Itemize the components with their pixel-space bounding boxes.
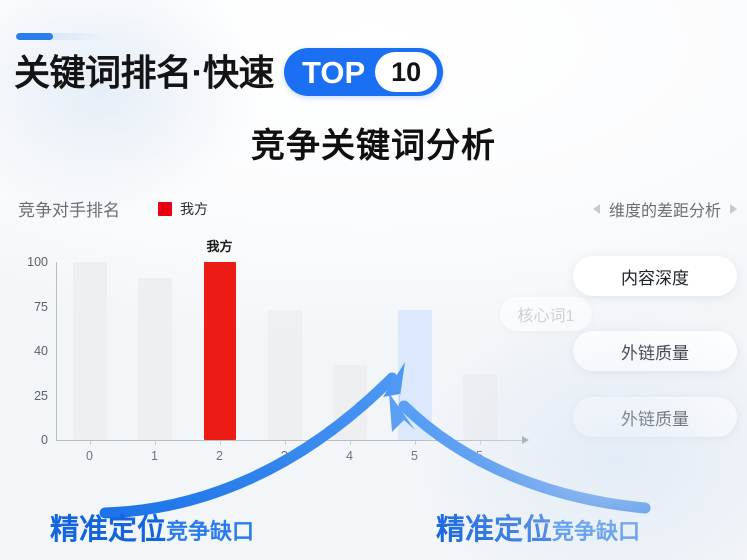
bar-slot: 我方: [187, 262, 252, 440]
caption-right: 精准定位 竞争缺口: [436, 506, 640, 548]
ghost-keyword-pill: 核心词1: [500, 297, 592, 331]
caption-left: 精准定位 竞争缺口: [50, 506, 254, 548]
x-axis-tick-label: 2: [216, 449, 223, 463]
x-axis-tick: [480, 441, 481, 445]
x-axis-tick-label: 5: [476, 449, 483, 463]
caption-right-sub: 竞争缺口: [552, 514, 640, 546]
bar[interactable]: [463, 374, 497, 440]
chevron-left-icon[interactable]: [593, 204, 600, 214]
x-axis-tick: [220, 441, 221, 445]
x-axis-tick-label: 0: [86, 449, 93, 463]
bar-slot: [382, 262, 447, 440]
x-axis-tick: [155, 441, 156, 445]
top-badge-value: 10: [375, 52, 437, 92]
y-axis-tick-label: 40: [34, 344, 48, 358]
caption-left-strong: 精准定位: [50, 506, 166, 548]
slide-canvas: 关键词排名·快速 TOP 10 竞争关键词分析 竞争对手排名 我方 维度的差距分…: [0, 0, 747, 560]
y-axis-tick-label: 100: [27, 255, 48, 269]
y-axis: 1007540250: [14, 252, 48, 437]
x-axis-tick: [350, 441, 351, 445]
top-badge-label: TOP: [302, 57, 375, 88]
bar-slot: [252, 262, 317, 440]
x-axis-tick: [90, 441, 91, 445]
bar-value-label: 我方: [206, 236, 232, 255]
x-axis-tick-label: 1: [151, 449, 158, 463]
dimension-pill-2[interactable]: 外链质量: [573, 397, 737, 437]
x-axis-tick: [285, 441, 286, 445]
x-axis-tick-label: 3: [281, 449, 288, 463]
bar-chart: 1007540250 我方 0123455: [14, 252, 544, 467]
legend-swatch-icon: [158, 202, 172, 216]
bar[interactable]: [138, 278, 172, 440]
x-axis-tick-label: 5: [411, 449, 418, 463]
bar[interactable]: [398, 310, 432, 440]
chart-header: 竞争对手排名 我方: [18, 196, 208, 221]
dimension-pill-0[interactable]: 内容深度: [573, 256, 737, 296]
bar[interactable]: [333, 365, 367, 440]
progress-bar: [16, 33, 108, 40]
bar-slot: [317, 262, 382, 440]
y-axis-tick-label: 25: [34, 389, 48, 403]
dimension-header-label: 维度的差距分析: [609, 197, 721, 221]
headline-text: 关键词排名·快速: [14, 55, 274, 91]
bar-slot: [122, 262, 187, 440]
chart-plot-area: 我方: [57, 262, 512, 440]
bar-highlight[interactable]: [204, 262, 236, 440]
progress-bar-fill: [16, 33, 53, 40]
bar-slot: [447, 262, 512, 440]
y-axis-tick-label: 0: [41, 433, 48, 447]
caption-left-sub: 竞争缺口: [166, 514, 254, 546]
dimension-pill-1[interactable]: 外链质量: [573, 331, 737, 371]
chart-subtitle: 竞争对手排名: [18, 196, 120, 221]
chevron-right-icon[interactable]: [730, 204, 737, 214]
x-axis-line: [56, 440, 524, 441]
dimension-header: 维度的差距分析: [593, 197, 737, 221]
chart-legend: 我方: [158, 199, 208, 219]
x-axis-arrow-icon: [522, 436, 529, 444]
bar[interactable]: [73, 262, 107, 440]
top-badge: TOP 10: [284, 48, 443, 96]
headline: 关键词排名·快速: [14, 46, 274, 100]
bar[interactable]: [268, 310, 302, 440]
bar-slot: [57, 262, 122, 440]
legend-label: 我方: [180, 199, 208, 219]
x-axis-tick: [415, 441, 416, 445]
caption-right-strong: 精准定位: [436, 506, 552, 548]
x-axis-tick-label: 4: [346, 449, 353, 463]
page-title: 竞争关键词分析: [0, 118, 747, 167]
y-axis-tick-label: 75: [34, 300, 48, 314]
